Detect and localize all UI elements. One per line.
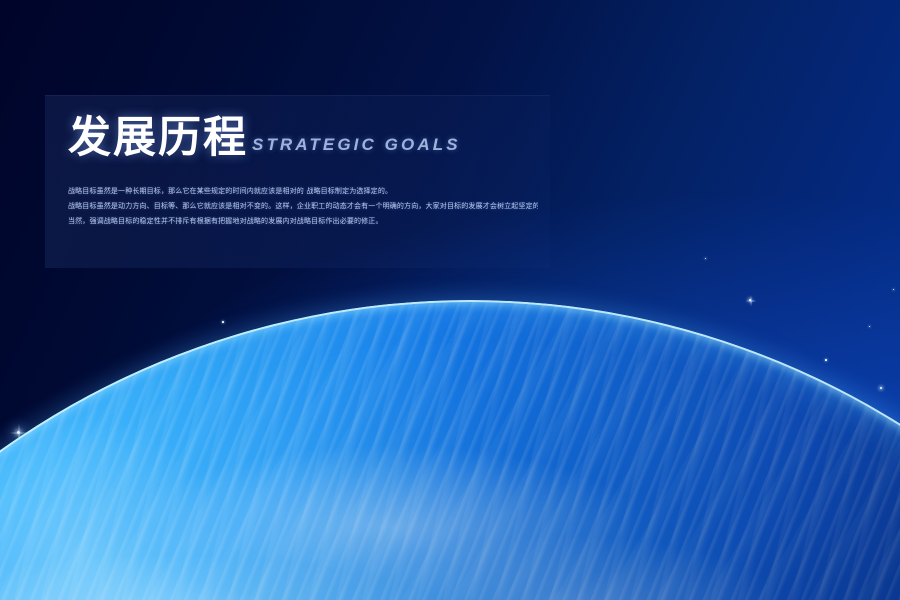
body-line: 战略目标虽然是动力方向、目标等、那么它就应该是相对不变的。这样，企业职工的动态才… (68, 201, 538, 212)
body-line: 当然，强调战略目标的稳定性并不排斥有根据有把握地对战略的发展内对战略目标作出必要… (68, 216, 538, 227)
body-line: 战略目标虽然是一种长期目标，那么它在某些规定的时间内就应该是相对的 战略目标制定… (68, 186, 538, 197)
headline-group: 发展历程 STRATEGIC GOALS (68, 117, 461, 160)
body-copy: 战略目标虽然是一种长期目标，那么它在某些规定的时间内就应该是相对的 战略目标制定… (68, 186, 538, 231)
banner-stage: 发展历程 STRATEGIC GOALS 战略目标虽然是一种长期目标，那么它在某… (0, 0, 900, 600)
page-title: 发展历程 (68, 117, 248, 160)
page-subtitle: STRATEGIC GOALS (252, 135, 461, 155)
